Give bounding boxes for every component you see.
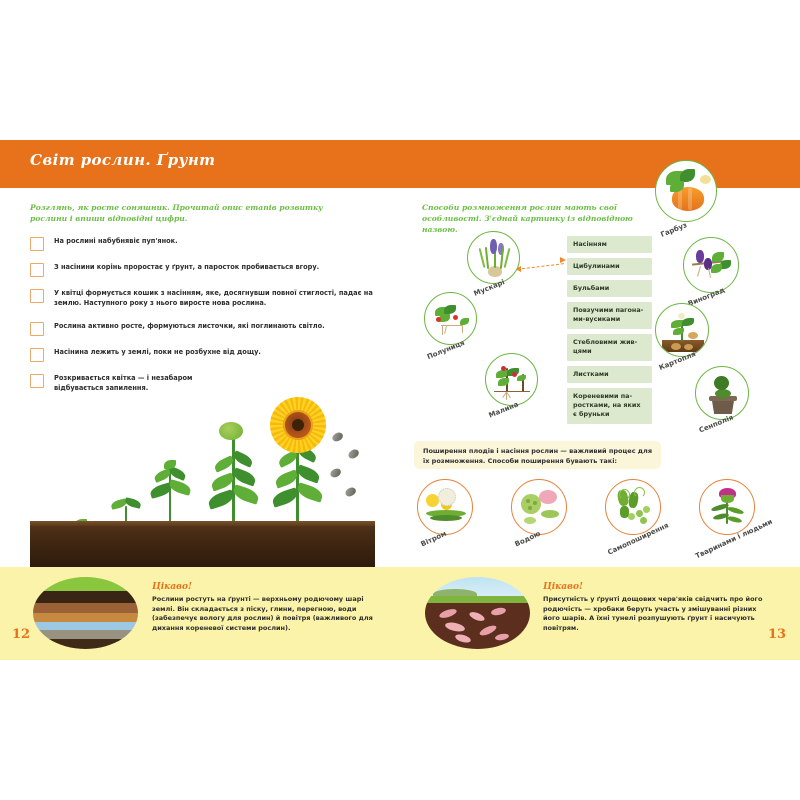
pod-hole xyxy=(526,499,530,503)
potato-tuber xyxy=(684,344,693,350)
falling-seed xyxy=(347,448,360,460)
checkbox-3[interactable] xyxy=(30,289,44,303)
grape-leaf xyxy=(711,264,722,273)
raspberry-berry xyxy=(512,372,517,377)
lily-pad xyxy=(541,510,559,518)
dispersal-circle-water xyxy=(511,479,567,535)
soil-surface xyxy=(30,521,375,526)
checkbox-1[interactable] xyxy=(30,237,44,251)
pea-seed xyxy=(640,517,647,524)
layer-bedrock xyxy=(33,639,138,649)
soil-layer xyxy=(425,603,530,649)
textbook-spread: Світ рослин. Ґрунт Гарбуз Розглянь, як р… xyxy=(0,140,800,660)
leaf-stage-6 xyxy=(296,482,325,502)
falling-seed xyxy=(344,486,357,498)
pea-seed xyxy=(636,510,643,517)
dandelion-seedhead xyxy=(438,488,456,506)
leaf-stage-6 xyxy=(296,464,322,483)
connector-muscari-to-bulbs xyxy=(517,263,564,270)
right-fact-body: Присутність у ґрунті дощових черв'яків с… xyxy=(543,595,773,633)
page-number-left: 12 xyxy=(12,627,30,642)
muscari-flower xyxy=(490,239,497,254)
pea-seed xyxy=(643,506,650,513)
checklist-item[interactable]: Розкривається квітка — і незабаром відбу… xyxy=(30,374,230,393)
thistle-leaf xyxy=(727,515,743,523)
pumpkin-flower xyxy=(700,175,711,184)
grape-root xyxy=(697,266,701,277)
strawberry-daughter-leaf xyxy=(460,318,469,325)
pea-seed xyxy=(628,513,635,520)
checklist-text: На рослині набубнявіє пуп'янок. xyxy=(54,237,178,247)
strawberry-runner xyxy=(441,325,463,326)
method-box-root-shoots[interactable]: Кореневими па-ростками, на яких є бруньк… xyxy=(567,388,652,424)
checklist-text: Рослина активно росте, формуються листоч… xyxy=(54,322,325,332)
soil-layers-illustration xyxy=(33,577,138,649)
method-box-runners[interactable]: Повзучими пагона-ми-вусиками xyxy=(567,302,652,329)
dispersal-instruction-box: Поширення плодів і насіння рослин — важл… xyxy=(414,441,661,469)
checklist-item[interactable]: Насінина лежить у землі, поки не розбухн… xyxy=(30,348,375,362)
sunflower-head xyxy=(270,397,326,453)
plant-circle-grapes xyxy=(683,237,739,293)
connector-arrowhead xyxy=(560,257,566,263)
pea-pod xyxy=(620,506,629,518)
method-box-stem-cuttings[interactable]: Стебловими жив-цями xyxy=(567,334,652,361)
strawberry-berry xyxy=(453,315,458,320)
method-box-tubers[interactable]: Бульбами xyxy=(567,280,652,297)
raspberry-shoot-leaf xyxy=(517,375,526,381)
dandelion-leaf xyxy=(430,515,462,521)
dispersal-circle-wind xyxy=(417,479,473,535)
potato-leaf xyxy=(682,318,694,326)
leaf-stage-5 xyxy=(232,450,254,467)
checkbox-5[interactable] xyxy=(30,348,44,362)
pod-hole xyxy=(533,501,537,505)
saintpaulia-leaf-large xyxy=(714,376,729,390)
leaf-stage-5 xyxy=(232,484,261,504)
strawberry-berry xyxy=(436,317,441,322)
checklist-text: З насінини корінь проростає у ґрунт, а п… xyxy=(54,263,319,273)
plant-circle-muscari xyxy=(467,231,520,284)
checklist-item[interactable]: З насінини корінь проростає у ґрунт, а п… xyxy=(30,263,375,277)
strawberry-root xyxy=(462,326,463,333)
checklist-item[interactable]: На рослині набубнявіє пуп'янок. xyxy=(30,237,375,251)
sunflower-core xyxy=(292,419,304,431)
thistle-bract xyxy=(721,495,734,503)
method-box-seeds[interactable]: Насінням xyxy=(567,236,652,253)
strawberry-root xyxy=(444,326,447,334)
flower-bud-stage-5 xyxy=(219,422,243,440)
lily-pad xyxy=(524,517,536,524)
potato-soil xyxy=(662,340,704,352)
plant-circle-strawberry xyxy=(424,292,477,345)
muscari-leaf xyxy=(504,248,511,268)
left-fact-title: Цікаво! xyxy=(152,582,192,592)
potato-tuber xyxy=(671,343,681,350)
plant-circle-potato xyxy=(655,303,709,357)
strawberry-root xyxy=(442,326,443,335)
lotus-flower xyxy=(539,490,557,504)
tendril xyxy=(634,487,645,498)
leaf-stage-4 xyxy=(168,479,192,496)
potato-flower xyxy=(678,313,685,319)
muscari-leaf xyxy=(485,247,489,269)
checklist-text: У квітці формується кошик з насінням, як… xyxy=(54,289,375,308)
right-task-instruction: Способи розмноження рослин мають свої ос… xyxy=(422,202,662,235)
tendril xyxy=(619,489,630,500)
left-task-instruction: Розглянь, як росте соняшник. Прочитай оп… xyxy=(30,202,360,224)
soil-line xyxy=(494,391,530,392)
thistle-leaf xyxy=(727,506,745,515)
checklist-text: Насінина лежить у землі, поки не розбухн… xyxy=(54,348,261,358)
falling-seed xyxy=(329,467,342,479)
raspberry-berry xyxy=(501,366,506,371)
checklist-item[interactable]: У квітці формується кошик з насінням, як… xyxy=(30,289,375,308)
left-fact-body: Рослини ростуть на ґрунті — верхньому ро… xyxy=(152,595,376,633)
plant-circle-saintpaulia xyxy=(695,366,749,420)
grape-cluster xyxy=(696,250,704,263)
potato-tuber xyxy=(688,332,698,339)
falling-seed xyxy=(331,431,344,443)
lotus-pod xyxy=(521,494,541,514)
saintpaulia-stem xyxy=(722,393,723,400)
dispersal-circle-animals xyxy=(699,479,755,535)
earthworms-illustration xyxy=(425,577,530,649)
pod-hole xyxy=(528,506,532,510)
plant-circle-raspberry xyxy=(485,353,538,406)
page-number-right: 13 xyxy=(768,627,786,642)
page-title: Світ рослин. Ґрунт xyxy=(30,151,215,169)
strawberry-leaf xyxy=(444,305,456,314)
checkbox-4[interactable] xyxy=(30,322,44,336)
checkbox-2[interactable] xyxy=(30,263,44,277)
checklist-item[interactable]: Рослина активно росте, формуються листоч… xyxy=(30,322,375,336)
right-fact-title: Цікаво! xyxy=(543,582,583,592)
method-box-leaves[interactable]: Листками xyxy=(567,366,652,383)
checkbox-6[interactable] xyxy=(30,374,44,388)
checklist-text: Розкривається квітка — і незабаром відбу… xyxy=(54,374,230,393)
method-box-bulbs[interactable]: Цибулинами xyxy=(567,258,652,275)
